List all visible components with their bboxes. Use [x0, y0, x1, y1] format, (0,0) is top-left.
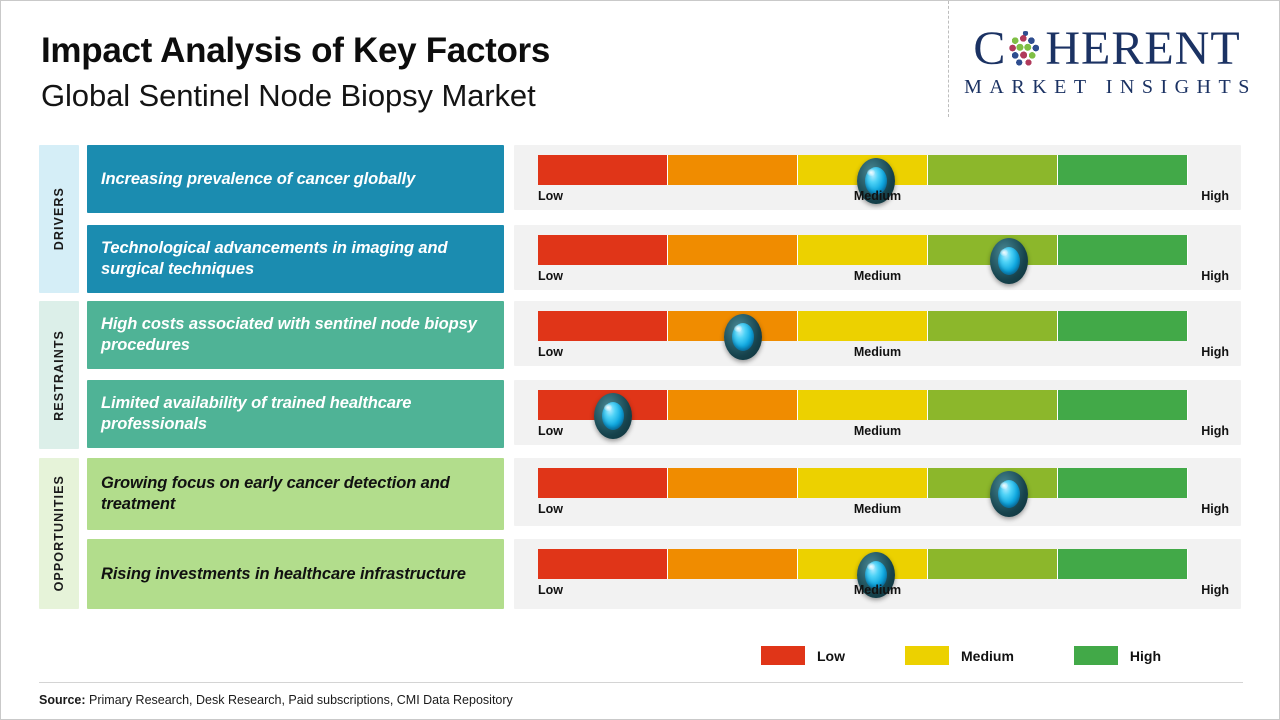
category-drivers: DRIVERS	[39, 145, 79, 293]
footer-divider	[39, 682, 1243, 683]
factor-label: High costs associated with sentinel node…	[101, 314, 490, 356]
page-title: Impact Analysis of Key Factors	[41, 31, 550, 71]
impact-scale-row: Low Medium High	[514, 301, 1241, 366]
scale-segment-low	[538, 468, 668, 498]
factor-label: Limited availability of trained healthca…	[101, 393, 490, 435]
impact-scale-row: Low Medium High	[514, 458, 1241, 526]
scale-segment-high	[1058, 390, 1188, 420]
scale-segment-low	[538, 549, 668, 579]
impact-scale-bar[interactable]	[538, 468, 1188, 498]
scale-segment-lowmed	[668, 155, 798, 185]
legend-item-high: High	[1074, 646, 1161, 665]
title-block: Impact Analysis of Key Factors Global Se…	[41, 31, 550, 114]
tick-label-high: High	[1201, 583, 1229, 597]
impact-scale-bar[interactable]	[538, 155, 1188, 185]
factor-label: Technological advancements in imaging an…	[101, 238, 490, 280]
impact-scale-row: Low Medium High	[514, 539, 1241, 609]
impact-scale-bar[interactable]	[538, 549, 1188, 579]
tick-label-medium: Medium	[514, 189, 1241, 203]
scale-segment-medhigh	[928, 155, 1058, 185]
scale-segment-low	[538, 311, 668, 341]
scale-segment-medium	[798, 468, 928, 498]
logo-tagline: MARKET INSIGHTS	[957, 76, 1257, 99]
legend-label: High	[1130, 648, 1161, 664]
legend-swatch-low	[761, 646, 805, 665]
factor-box[interactable]: Growing focus on early cancer detection …	[87, 458, 504, 530]
impact-scale-bar[interactable]	[538, 235, 1188, 265]
tick-label-high: High	[1201, 345, 1229, 359]
category-label: DRIVERS	[52, 187, 66, 250]
scale-segment-medium	[798, 390, 928, 420]
category-label: OPPORTUNITIES	[52, 475, 66, 591]
source-footer: Source: Primary Research, Desk Research,…	[39, 693, 513, 707]
factor-box[interactable]: High costs associated with sentinel node…	[87, 301, 504, 369]
scale-segment-low	[538, 155, 668, 185]
factor-label: Increasing prevalence of cancer globally	[101, 169, 415, 190]
logo-letter-c: C	[973, 25, 1006, 73]
impact-scale-bar[interactable]	[538, 390, 1188, 420]
impact-scale-row: Low Medium High	[514, 225, 1241, 290]
scale-segment-lowmed	[668, 468, 798, 498]
scale-segment-high	[1058, 468, 1188, 498]
factor-label: Growing focus on early cancer detection …	[101, 473, 490, 515]
logo-wordmark: C HERENT	[957, 25, 1257, 73]
scale-segment-medhigh	[928, 390, 1058, 420]
tick-label-high: High	[1201, 269, 1229, 283]
tick-label-medium: Medium	[514, 502, 1241, 516]
scale-segment-high	[1058, 235, 1188, 265]
company-logo: C HERENT MARKET INSIGHTS	[957, 25, 1257, 99]
factor-box[interactable]: Increasing prevalence of cancer globally	[87, 145, 504, 213]
factor-label: Rising investments in healthcare infrast…	[101, 564, 466, 585]
slide-canvas: Impact Analysis of Key Factors Global Se…	[0, 0, 1280, 720]
impact-scale-row: Low Medium High	[514, 380, 1241, 445]
source-text: Primary Research, Desk Research, Paid su…	[86, 693, 513, 707]
dotted-globe-icon	[1007, 31, 1044, 68]
scale-segment-low	[538, 235, 668, 265]
legend-label: Medium	[961, 648, 1014, 664]
factor-box[interactable]: Rising investments in healthcare infrast…	[87, 539, 504, 609]
tick-label-medium: Medium	[514, 424, 1241, 438]
source-label: Source:	[39, 693, 86, 707]
legend-swatch-medium	[905, 646, 949, 665]
factor-box[interactable]: Technological advancements in imaging an…	[87, 225, 504, 293]
logo-letters-herent: HERENT	[1045, 25, 1240, 73]
tick-label-high: High	[1201, 424, 1229, 438]
tick-label-medium: Medium	[514, 345, 1241, 359]
category-restraints: RESTRAINTS	[39, 301, 79, 449]
scale-segment-medium	[798, 311, 928, 341]
scale-segment-high	[1058, 549, 1188, 579]
scale-segment-medhigh	[928, 549, 1058, 579]
tick-label-high: High	[1201, 502, 1229, 516]
tick-label-medium: Medium	[514, 583, 1241, 597]
page-subtitle: Global Sentinel Node Biopsy Market	[41, 77, 550, 114]
category-opportunities: OPPORTUNITIES	[39, 458, 79, 609]
tick-label-high: High	[1201, 189, 1229, 203]
scale-segment-lowmed	[668, 549, 798, 579]
tick-label-medium: Medium	[514, 269, 1241, 283]
scale-segment-medium	[798, 235, 928, 265]
scale-segment-high	[1058, 155, 1188, 185]
factor-box[interactable]: Limited availability of trained healthca…	[87, 380, 504, 448]
legend-label: Low	[817, 648, 845, 664]
legend-item-low: Low	[761, 646, 845, 665]
scale-segment-lowmed	[668, 390, 798, 420]
impact-scale-bar[interactable]	[538, 311, 1188, 341]
legend-swatch-high	[1074, 646, 1118, 665]
scale-segment-lowmed	[668, 235, 798, 265]
scale-segment-medhigh	[928, 311, 1058, 341]
category-label: RESTRAINTS	[52, 330, 66, 421]
legend-item-medium: Medium	[905, 646, 1014, 665]
header-dashed-divider	[948, 1, 949, 117]
scale-segment-high	[1058, 311, 1188, 341]
impact-scale-row: Low Medium High	[514, 145, 1241, 210]
chart-legend: Low Medium High	[761, 646, 1191, 665]
